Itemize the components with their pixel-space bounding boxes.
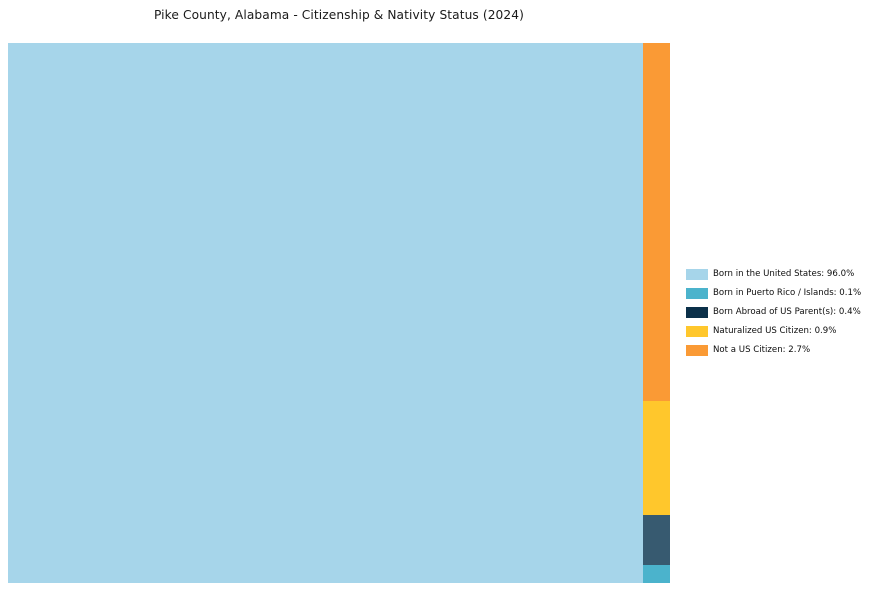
chart-title: Pike County, Alabama - Citizenship & Nat… [0,8,678,22]
treemap-minor-column [643,43,670,583]
legend-label: Born Abroad of US Parent(s): 0.4% [713,307,861,318]
legend-item-born-abroad-of-us-parents[interactable]: Born Abroad of US Parent(s): 0.4% [686,303,882,322]
legend-swatch-icon [686,269,708,280]
legend-swatch-icon [686,288,708,299]
legend-item-naturalized-us-citizen[interactable]: Naturalized US Citizen: 0.9% [686,322,882,341]
treemap-tile-naturalized-us-citizen[interactable] [643,401,670,515]
treemap-tile-not-a-us-citizen[interactable] [643,43,670,401]
legend-item-born-in-the-united-states[interactable]: Born in the United States: 96.0% [686,265,882,284]
treemap-tile-born-in-puerto-rico-islands[interactable] [643,565,670,583]
legend-label: Born in Puerto Rico / Islands: 0.1% [713,288,861,299]
treemap-tile-born-in-the-united-states[interactable] [8,43,643,583]
legend-item-not-a-us-citizen[interactable]: Not a US Citizen: 2.7% [686,341,882,360]
plot-area [8,43,670,583]
legend-label: Not a US Citizen: 2.7% [713,345,810,356]
legend-swatch-icon [686,326,708,337]
citizenship-nativity-treemap-figure: Pike County, Alabama - Citizenship & Nat… [0,0,889,590]
legend-label: Born in the United States: 96.0% [713,269,854,280]
treemap-tile-born-abroad-of-us-parents[interactable] [643,515,670,565]
legend-item-born-in-puerto-rico-islands[interactable]: Born in Puerto Rico / Islands: 0.1% [686,284,882,303]
legend-swatch-icon [686,345,708,356]
chart-legend: Born in the United States: 96.0% Born in… [686,265,882,360]
legend-label: Naturalized US Citizen: 0.9% [713,326,836,337]
legend-swatch-icon [686,307,708,318]
